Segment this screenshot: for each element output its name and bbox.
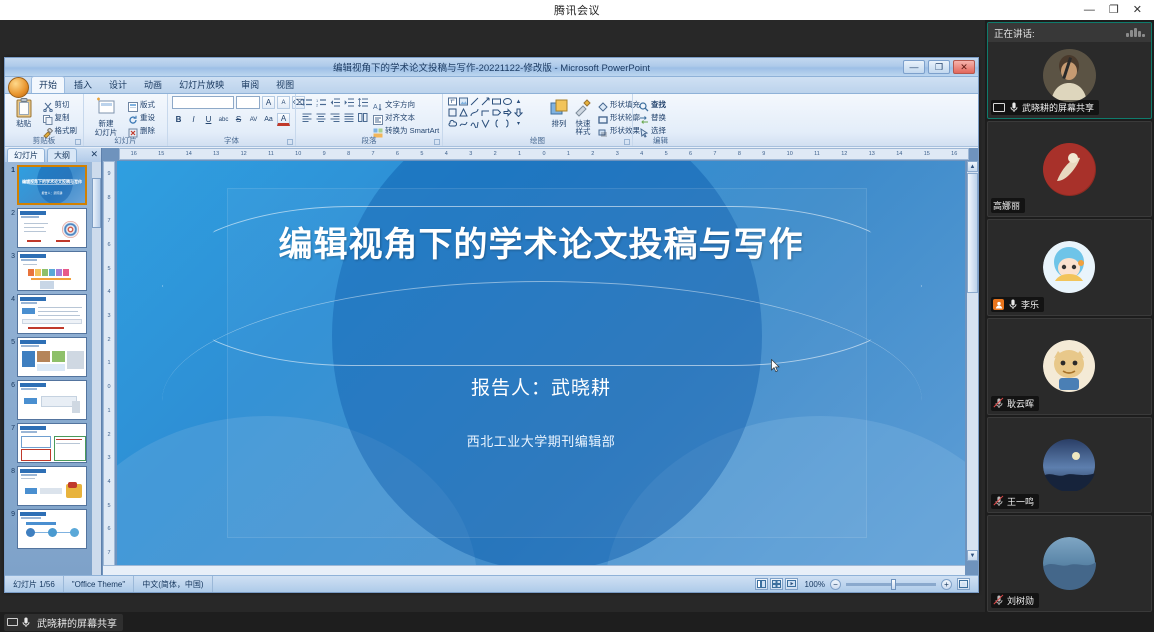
find-icon <box>639 99 649 109</box>
copy-label: 复制 <box>55 112 70 123</box>
slide-vertical-scrollbar[interactable]: ▲ ▼ <box>967 161 978 561</box>
smartart-icon <box>373 125 383 135</box>
ribbon-group-font: A A ⌫ B I U abc S AV Aa A 字体 <box>167 94 295 146</box>
scissors-icon <box>43 99 53 109</box>
shape-effects-icon <box>598 125 608 135</box>
ruler-tick: 9 <box>762 151 765 157</box>
thumbnail-number: 9 <box>7 509 15 549</box>
thumbnail-number: 4 <box>7 294 15 334</box>
slides-small-buttons: 版式 重设 删除 <box>126 96 157 136</box>
zoom-slider-knob[interactable] <box>891 579 896 590</box>
participant-tile[interactable]: 高娜丽 <box>987 121 1152 218</box>
align-text-button[interactable]: 对齐文本 <box>371 111 441 123</box>
participant-name: 耿云晖 <box>1007 397 1034 410</box>
ruler-tick: 4 <box>107 289 110 295</box>
justify-button[interactable] <box>342 111 355 124</box>
zoom-out-button[interactable]: − <box>830 579 841 590</box>
powerpoint-title-bar: 编辑视角下的学术论文投稿与写作-20221122-修改版 - Microsoft… <box>5 58 978 77</box>
meeting-maximize-button[interactable]: ❐ <box>1109 5 1119 16</box>
avatar <box>1043 143 1096 196</box>
text-shadow-button[interactable]: abc <box>217 113 230 126</box>
thumbnail-preview[interactable] <box>17 337 87 377</box>
underline-button[interactable]: U <box>202 113 215 126</box>
delete-icon <box>128 125 138 135</box>
tab-design[interactable]: 设计 <box>101 76 135 93</box>
ppt-close-button[interactable]: ✕ <box>953 60 975 74</box>
paste-icon <box>13 97 35 119</box>
ruler-tick: 15 <box>158 151 164 157</box>
thumbnail-number: 1 <box>7 165 15 205</box>
shape-arrow-icon[interactable] <box>480 96 491 107</box>
thumbnail-preview[interactable]: 编辑视角下的学术论文投稿与写作 报告人：武晓耕 <box>17 165 87 205</box>
participant-name-pill: 王一鸣 <box>991 494 1039 509</box>
participant-name: 高娜丽 <box>993 199 1020 212</box>
shape-triangle-icon[interactable] <box>458 107 469 118</box>
paragraph-group-label: 段落 <box>296 135 442 146</box>
participant-name: 王一鸣 <box>1007 495 1034 508</box>
slideshow-view-button[interactable] <box>785 578 798 590</box>
ruler-tick: 2 <box>591 151 594 157</box>
ruler-tick: 15 <box>924 151 930 157</box>
text-direction-button[interactable]: A 文字方向 <box>371 98 441 110</box>
ruler-tick: 5 <box>107 503 110 509</box>
meeting-close-button[interactable]: ✕ <box>1133 5 1142 16</box>
ruler-tick: 2 <box>107 432 110 438</box>
status-theme: "Office Theme" <box>64 576 134 592</box>
vertical-ruler: 9 8 7 6 5 4 3 2 1 0 1 2 3 4 5 6 7 <box>103 161 115 566</box>
thumbnail-item[interactable]: 8 <box>5 463 93 506</box>
participant-name-pill: 武晓耕的屏幕共享 <box>991 100 1099 115</box>
horizontal-ruler: 16 15 14 13 12 11 10 9 8 7 6 5 4 3 2 1 0 <box>119 148 969 160</box>
powerpoint-document-title: 编辑视角下的学术论文投稿与写作-20221122-修改版 - Microsoft… <box>333 60 650 74</box>
ruler-tick: 4 <box>445 151 448 157</box>
font-row-top: A A ⌫ <box>172 96 305 109</box>
tab-insert[interactable]: 插入 <box>66 76 100 93</box>
new-slide-button[interactable]: 新建 幻灯片 <box>88 96 124 137</box>
change-case-button[interactable]: Aa <box>262 113 275 126</box>
status-language[interactable]: 中文(简体，中国) <box>134 576 212 592</box>
svg-text:A: A <box>373 104 378 111</box>
arrange-label: 排列 <box>552 120 567 128</box>
participant-tile[interactable]: 刘树勋 <box>987 515 1152 612</box>
thumbnail-preview[interactable] <box>17 423 87 463</box>
ruler-tick: 8 <box>347 151 350 157</box>
ruler-tick: 3 <box>469 151 472 157</box>
copy-button[interactable]: 复制 <box>41 111 80 123</box>
ribbon-group-paragraph: 12 <box>295 94 442 146</box>
reset-button[interactable]: 重设 <box>126 111 157 123</box>
ruler-tick: 2 <box>107 337 110 343</box>
mic-on-icon <box>1008 102 1019 113</box>
shape-elbow-icon[interactable] <box>480 107 491 118</box>
ruler-tick: 10 <box>295 151 301 157</box>
shape-line-icon[interactable] <box>469 96 480 107</box>
ruler-tick: 6 <box>107 526 110 532</box>
character-spacing-button[interactable]: AV <box>247 113 260 126</box>
ruler-tick: 8 <box>738 151 741 157</box>
speaking-label: 正在讲话: <box>994 26 1035 40</box>
shape-freeform-icon[interactable] <box>458 118 469 129</box>
participant-sidebar: 正在讲话: 武晓耕的屏幕共享 <box>985 20 1154 612</box>
slide-thumbnail-pane: 幻灯片 大纲 ✕ 1 编辑视角下的学术论文投稿与写作 报告人：武晓耕 <box>5 148 102 576</box>
mic-on-icon <box>1007 299 1018 310</box>
ruler-tick: 9 <box>323 151 326 157</box>
convert-smartart-label: 转换为 SmartArt <box>385 125 439 136</box>
align-text-label: 对齐文本 <box>385 112 415 123</box>
ruler-tick: 16 <box>951 151 957 157</box>
powerpoint-window-controls: — ❐ ✕ <box>903 60 975 74</box>
thumbnail-preview[interactable] <box>17 466 87 506</box>
slide-presenter-text[interactable]: 报告人：武晓耕 <box>117 373 965 400</box>
arrange-spacer-1 <box>524 96 535 107</box>
fit-to-window-button[interactable] <box>957 578 970 590</box>
paragraph-small-buttons: A 文字方向 对齐文本 转换为 SmartArt <box>371 96 441 136</box>
normal-view-button[interactable] <box>755 578 768 590</box>
editing-group-label: 编辑 <box>633 135 688 146</box>
thumbnail-pane-close-icon[interactable]: ✕ <box>90 149 98 160</box>
thumbnail-item[interactable]: 4 <box>5 291 93 334</box>
line-spacing-button[interactable] <box>356 96 369 109</box>
strikethrough-button[interactable]: S <box>232 113 245 126</box>
text-direction-label: 文字方向 <box>385 99 415 110</box>
meeting-app-title: 腾讯会议 <box>554 2 600 18</box>
font-dialog-launcher[interactable] <box>287 139 293 145</box>
ruler-tick: 3 <box>107 313 110 319</box>
slide-editing-surface[interactable]: 编辑视角下的学术论文投稿与写作 报告人：武晓耕 西北工业大学期刊编辑部 <box>117 161 965 576</box>
clipboard-dialog-launcher[interactable] <box>75 139 81 145</box>
select-icon <box>639 125 649 135</box>
screen-root: 腾讯会议 — ❐ ✕ 编辑视角下的学术论文投稿与写作-20221122-修改版 … <box>0 0 1154 632</box>
tab-home[interactable]: 开始 <box>31 76 65 93</box>
thumbnail-number: 6 <box>7 380 15 420</box>
slide-canvas-area: 16 15 14 13 12 11 10 9 8 7 6 5 4 3 2 1 0 <box>103 148 978 576</box>
shrink-font-button[interactable]: A <box>277 96 290 109</box>
ppt-minimize-button[interactable]: — <box>903 60 925 74</box>
slides-group-label: 幻灯片 <box>84 135 167 146</box>
slide-title-text[interactable]: 编辑视角下的学术论文投稿与写作 <box>117 217 965 266</box>
shape-outline-icon <box>598 112 608 122</box>
columns-button[interactable] <box>356 111 369 124</box>
thumbnail-number: 5 <box>7 337 15 377</box>
drawing-group-label: 绘图 <box>443 135 632 146</box>
ruler-tick: 6 <box>107 242 110 248</box>
thumbnail-pane-tabs: 幻灯片 大纲 ✕ <box>5 148 101 162</box>
shape-brace-right-icon[interactable] <box>502 118 513 129</box>
powerpoint-status-bar: 幻灯片 1/56 "Office Theme" 中文(简体，中国) 100% −… <box>5 575 978 592</box>
shapes-more-icon[interactable]: ▾ <box>513 118 524 129</box>
meeting-window-controls: — ❐ ✕ <box>1084 0 1150 20</box>
font-color-button[interactable]: A <box>277 113 290 126</box>
tab-view[interactable]: 视图 <box>268 76 302 93</box>
font-row-bottom: B I U abc S AV Aa A <box>172 113 290 126</box>
layout-button[interactable]: 版式 <box>126 98 157 110</box>
thumbnail-number: 3 <box>7 251 15 291</box>
mouse-cursor-icon <box>771 359 781 373</box>
ruler-tick: 5 <box>107 266 110 272</box>
ruler-tick: 0 <box>542 151 545 157</box>
ruler-tick: 1 <box>107 408 110 414</box>
ruler-tick: 4 <box>107 479 110 485</box>
zoom-slider[interactable] <box>846 583 936 586</box>
thumbnail-preview[interactable] <box>17 509 87 549</box>
italic-button[interactable]: I <box>187 113 200 126</box>
office-button-icon[interactable] <box>8 77 29 98</box>
tab-outline[interactable]: 大纲 <box>47 148 77 162</box>
find-button[interactable]: 查找 <box>637 98 668 110</box>
thumbnail-item[interactable]: 3 <box>5 248 93 291</box>
thumbnail-item[interactable]: 7 <box>5 420 93 463</box>
thumbnail-number: 2 <box>7 208 15 248</box>
status-zoom-level: 100% <box>805 580 825 589</box>
quick-styles-icon <box>572 97 594 119</box>
drawing-dialog-launcher[interactable] <box>624 139 630 145</box>
bottom-share-label: 武晓耕的屏幕共享 <box>37 615 117 630</box>
thumbnail-number: 7 <box>7 423 15 463</box>
tab-review[interactable]: 审阅 <box>233 76 267 93</box>
shape-brace-left-icon[interactable] <box>491 118 502 129</box>
replace-label: 替换 <box>651 112 666 123</box>
tab-slideshow[interactable]: 幻灯片放映 <box>171 76 232 93</box>
slide-scrollbar-thumb[interactable] <box>967 173 978 293</box>
avatar <box>1043 439 1096 492</box>
ruler-tick: 4 <box>640 151 643 157</box>
paintbrush-icon <box>43 125 53 135</box>
ruler-tick: 14 <box>896 151 902 157</box>
ruler-tick: 1 <box>567 151 570 157</box>
font-group-label: 字体 <box>168 135 295 146</box>
cut-label: 剪切 <box>55 99 70 110</box>
arrange-spacer-5 <box>524 118 535 129</box>
avatar <box>1043 340 1096 393</box>
ruler-tick: 13 <box>213 151 219 157</box>
ruler-tick: 3 <box>107 455 110 461</box>
shape-angle-icon[interactable] <box>480 118 491 129</box>
shape-fill-icon <box>598 99 608 109</box>
audio-wave-icon <box>1126 28 1145 37</box>
thumbnail-list[interactable]: 1 编辑视角下的学术论文投稿与写作 报告人：武晓耕 2 <box>5 162 93 576</box>
increase-indent-button[interactable] <box>342 96 355 109</box>
replace-icon <box>639 112 649 122</box>
participant-name-pill: 耿云晖 <box>991 396 1039 411</box>
ruler-tick: 11 <box>268 151 274 157</box>
ruler-tick: 2 <box>494 151 497 157</box>
reset-icon <box>128 112 138 122</box>
shape-curve-icon[interactable] <box>469 107 480 118</box>
bullets-button[interactable] <box>300 96 313 109</box>
shape-scribble-icon[interactable] <box>469 118 480 129</box>
ribbon-group-drawing: ▲ <box>442 94 632 146</box>
mic-muted-icon <box>993 496 1004 507</box>
ribbon-group-slides: 新建 幻灯片 版式 重设 删除 <box>83 94 167 146</box>
arrange-button[interactable]: 排列 <box>548 96 570 128</box>
align-text-icon <box>373 112 383 122</box>
thumbnail-scrollbar-thumb[interactable] <box>92 178 101 228</box>
shape-arrow-down-icon[interactable] <box>513 107 524 118</box>
shape-square-icon[interactable] <box>447 107 458 118</box>
arrange-spacer-4 <box>535 107 546 118</box>
ribbon-group-clipboard: 粘贴 剪切 复制 格式刷 剪贴板 <box>5 94 83 146</box>
mic-muted-icon <box>993 595 1004 606</box>
arrange-spacer-6 <box>535 118 546 129</box>
quick-styles-label: 快速样式 <box>572 120 594 136</box>
status-slide-counter: 幻灯片 1/56 <box>5 576 64 592</box>
screen-share-icon <box>7 618 18 626</box>
ruler-tick: 1 <box>518 151 521 157</box>
shape-rectangle-icon[interactable] <box>491 96 502 107</box>
bold-button[interactable]: B <box>172 113 185 126</box>
ruler-tick: 5 <box>665 151 668 157</box>
ruler-tick: 14 <box>186 151 192 157</box>
status-view-controls: 100% − + <box>755 578 978 590</box>
ruler-tick: 11 <box>814 151 820 157</box>
slide-canvas[interactable]: 编辑视角下的学术论文投稿与写作 报告人：武晓耕 西北工业大学期刊编辑部 <box>117 161 965 566</box>
ruler-tick: 5 <box>420 151 423 157</box>
zoom-in-button[interactable]: + <box>941 579 952 590</box>
layout-label: 版式 <box>140 99 155 110</box>
ppt-maximize-button[interactable]: ❐ <box>928 60 950 74</box>
ruler-tick: 13 <box>869 151 875 157</box>
participant-name-pill: 刘树勋 <box>991 593 1039 608</box>
avatar <box>1043 537 1096 590</box>
ruler-tick: 12 <box>241 151 247 157</box>
bottom-share-indicator[interactable]: 武晓耕的屏幕共享 <box>4 614 123 631</box>
ruler-tick: 6 <box>396 151 399 157</box>
participant-name-pill: 李乐 <box>991 297 1044 312</box>
paste-button[interactable]: 粘贴 <box>9 96 39 128</box>
scroll-up-icon[interactable]: ▲ <box>967 161 978 172</box>
align-center-button[interactable] <box>314 111 327 124</box>
meeting-title-bar: 腾讯会议 — ❐ ✕ <box>0 0 1154 20</box>
text-direction-icon: A <box>373 99 383 109</box>
slide-sorter-view-button[interactable] <box>770 578 783 590</box>
thumbnail-preview[interactable] <box>17 380 87 420</box>
thumbnail-item[interactable]: 5 <box>5 334 93 377</box>
mic-on-icon <box>22 617 33 628</box>
shape-textbox-icon[interactable] <box>447 96 458 107</box>
shape-oval-icon[interactable] <box>502 96 513 107</box>
participant-name: 李乐 <box>1021 298 1039 311</box>
screen-share-icon <box>993 103 1005 112</box>
new-slide-icon <box>95 97 117 119</box>
thumbnail-preview[interactable] <box>17 251 87 291</box>
new-slide-label-line1: 新建 <box>99 120 114 128</box>
align-left-button[interactable] <box>300 111 313 124</box>
avatar <box>1043 241 1096 294</box>
ruler-tick: 7 <box>713 151 716 157</box>
ruler-tick: 1 <box>107 360 110 366</box>
thumbnail-item[interactable]: 2 <box>5 205 93 248</box>
thumbnail-item[interactable]: 9 <box>5 506 93 549</box>
participant-tile-speaker[interactable]: 正在讲话: 武晓耕的屏幕共享 <box>987 22 1152 119</box>
thumbnail-number: 8 <box>7 466 15 506</box>
meeting-minimize-button[interactable]: — <box>1084 5 1095 16</box>
font-size-combo[interactable] <box>236 96 260 109</box>
participant-tile[interactable]: 王一鸣 <box>987 417 1152 514</box>
mic-muted-icon <box>993 398 1004 409</box>
cut-button[interactable]: 剪切 <box>41 98 80 110</box>
participant-name: 刘树勋 <box>1007 594 1034 607</box>
grow-font-button[interactable]: A <box>262 96 275 109</box>
speaking-header: 正在讲话: <box>988 23 1151 42</box>
select-label: 选择 <box>651 125 666 136</box>
shapes-gallery[interactable]: ▲ <box>447 96 546 129</box>
ruler-tick: 8 <box>107 195 110 201</box>
avatar <box>1043 49 1096 102</box>
participant-tile[interactable]: 耿云晖 <box>987 318 1152 415</box>
arrange-spacer-2 <box>535 96 546 107</box>
align-right-button[interactable] <box>328 111 341 124</box>
copy-icon <box>43 112 53 122</box>
meeting-bottom-bar: 武晓耕的屏幕共享 <box>0 612 1154 632</box>
ruler-tick: 9 <box>107 171 110 177</box>
thumbnail-item[interactable]: 1 编辑视角下的学术论文投稿与写作 报告人：武晓耕 <box>5 162 93 205</box>
ruler-tick: 6 <box>689 151 692 157</box>
clipboard-group-label: 剪贴板 <box>5 135 83 146</box>
ruler-tick: 3 <box>616 151 619 157</box>
tab-slides-thumbnails[interactable]: 幻灯片 <box>7 148 45 162</box>
thumbnail-scrollbar[interactable] <box>92 162 101 576</box>
ribbon-group-editing: 查找 替换 选择 编辑 <box>632 94 688 146</box>
shape-picture-icon[interactable] <box>458 96 469 107</box>
svg-text:2: 2 <box>316 103 319 108</box>
host-badge-icon <box>993 299 1004 310</box>
shapes-scroll-up-icon[interactable]: ▲ <box>513 96 524 107</box>
format-painter-label: 格式刷 <box>55 125 78 136</box>
find-label: 查找 <box>651 99 666 110</box>
thumbnail-item[interactable]: 6 <box>5 377 93 420</box>
ruler-tick: 7 <box>107 550 110 556</box>
ruler-tick: 0 <box>107 384 110 390</box>
thumbnail-preview[interactable] <box>17 208 87 248</box>
shape-pentagon-icon[interactable] <box>491 107 502 118</box>
decrease-indent-button[interactable] <box>328 96 341 109</box>
shape-cloud-icon[interactable] <box>447 118 458 129</box>
ruler-tick: 16 <box>131 151 137 157</box>
ruler-tick: 7 <box>372 151 375 157</box>
arrange-icon <box>548 97 570 119</box>
thumbnail-preview[interactable] <box>17 294 87 334</box>
participant-name-pill: 高娜丽 <box>991 198 1025 213</box>
ruler-tick: 12 <box>841 151 847 157</box>
slide-organization-text[interactable]: 西北工业大学期刊编辑部 <box>117 431 965 450</box>
ruler-tick: 7 <box>107 218 110 224</box>
tab-animations[interactable]: 动画 <box>136 76 170 93</box>
participant-tile[interactable]: 李乐 <box>987 219 1152 316</box>
clipboard-small-buttons: 剪切 复制 格式刷 <box>41 96 80 136</box>
ruler-tick: 10 <box>787 151 793 157</box>
replace-button[interactable]: 替换 <box>637 111 668 123</box>
numbering-button[interactable]: 12 <box>314 96 327 109</box>
ribbon-tab-row: 开始 插入 设计 动画 幻灯片放映 审阅 视图 <box>5 77 978 94</box>
paste-label: 粘贴 <box>16 120 31 128</box>
shape-arrow-right-icon[interactable] <box>502 107 513 118</box>
powerpoint-workspace: 幻灯片 大纲 ✕ 1 编辑视角下的学术论文投稿与写作 报告人：武晓耕 <box>5 148 978 576</box>
delete-slide-label: 删除 <box>140 125 155 136</box>
reset-label: 重设 <box>140 112 155 123</box>
paragraph-dialog-launcher[interactable] <box>434 139 440 145</box>
scroll-down-icon[interactable]: ▼ <box>967 550 978 561</box>
quick-styles-button[interactable]: 快速样式 <box>572 96 594 136</box>
arrange-spacer-3 <box>524 107 535 118</box>
layout-icon <box>128 99 138 109</box>
participant-name: 武晓耕的屏幕共享 <box>1022 101 1094 114</box>
font-name-combo[interactable] <box>172 96 234 109</box>
editing-small-buttons: 查找 替换 选择 <box>637 96 668 136</box>
ribbon: 粘贴 剪切 复制 格式刷 剪贴板 <box>5 94 978 147</box>
powerpoint-window: 编辑视角下的学术论文投稿与写作-20221122-修改版 - Microsoft… <box>4 57 979 593</box>
